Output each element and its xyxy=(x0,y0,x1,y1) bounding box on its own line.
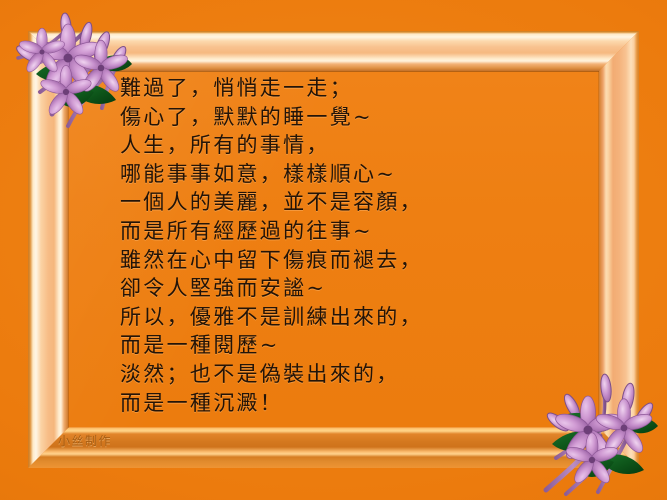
poem-line: 而是一種沉澱！ xyxy=(120,389,560,418)
poem-line: 而是一種閱歷~ xyxy=(120,331,560,360)
floral-spray-top-left xyxy=(6,0,146,136)
poem-line: 人生，所有的事情， xyxy=(120,131,560,160)
poem-line: 難過了，悄悄走一走； xyxy=(120,74,560,103)
poem-line: 哪能事事如意，樣樣順心~ xyxy=(120,160,560,189)
greeting-card: 難過了，悄悄走一走； 傷心了，默默的睡一覺~ 人生，所有的事情， 哪能事事如意，… xyxy=(0,0,667,500)
poem-line: 傷心了，默默的睡一覺~ xyxy=(120,103,560,132)
poem-line: 而是所有經歷過的往事~ xyxy=(120,217,560,246)
poem-text-block: 難過了，悄悄走一走； 傷心了，默默的睡一覺~ 人生，所有的事情， 哪能事事如意，… xyxy=(120,74,560,417)
poem-line: 淡然；也不是偽裝出來的， xyxy=(120,360,560,389)
artist-signature: 小丝制作 xyxy=(58,432,112,449)
poem-line: 一個人的美麗，並不是容顏， xyxy=(120,188,560,217)
poem-line: 雖然在心中留下傷痕而褪去， xyxy=(120,246,560,275)
poem-line: 卻令人堅強而安謐~ xyxy=(120,274,560,303)
poem-line: 所以，優雅不是訓練出來的， xyxy=(120,303,560,332)
floral-spray-bottom-right xyxy=(528,362,667,500)
